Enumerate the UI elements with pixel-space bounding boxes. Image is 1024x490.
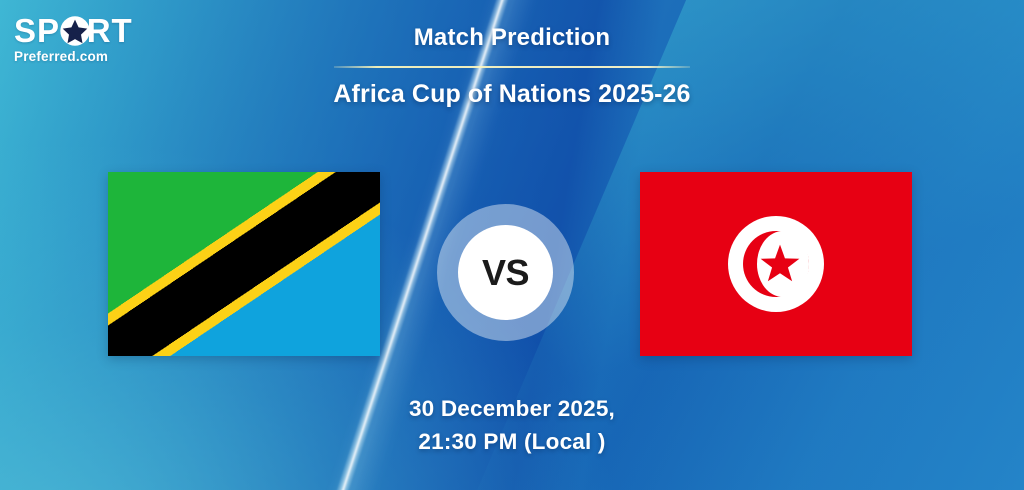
vs-label: VS bbox=[482, 255, 529, 291]
header-divider bbox=[334, 66, 690, 68]
page-subtitle: Match Prediction bbox=[0, 24, 1024, 52]
match-prediction-banner: SPORT Preferred.com Match Prediction Afr… bbox=[0, 0, 1024, 490]
tanzania-flag bbox=[108, 172, 380, 356]
tunisia-flag bbox=[640, 172, 912, 356]
header-block: Match Prediction Africa Cup of Nations 2… bbox=[0, 24, 1024, 109]
vs-badge-circle: VS bbox=[458, 225, 553, 320]
tunisia-flag-star-icon bbox=[759, 243, 801, 285]
vs-badge: VS bbox=[437, 204, 574, 341]
tunisia-flag-disc bbox=[728, 216, 824, 312]
match-datetime: 30 December 2025, 21:30 PM (Local ) bbox=[0, 392, 1024, 458]
page-title: Africa Cup of Nations 2025-26 bbox=[0, 80, 1024, 109]
tanzania-flag-black-band bbox=[108, 172, 380, 356]
match-time: 21:30 PM (Local ) bbox=[0, 425, 1024, 458]
match-date: 30 December 2025, bbox=[0, 392, 1024, 425]
